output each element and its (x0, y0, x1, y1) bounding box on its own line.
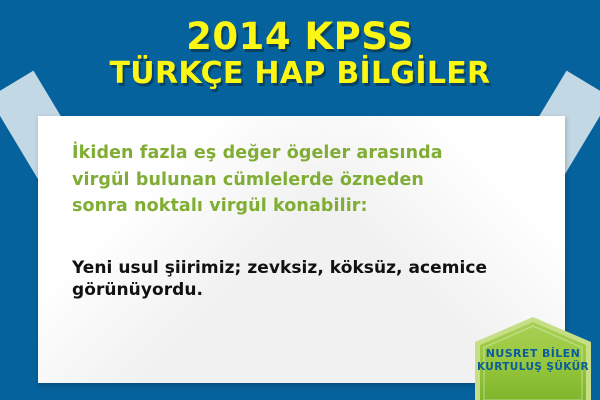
title-line-secondary: TÜRKÇE HAP BİLGİLER (0, 58, 600, 90)
card-body: İkiden fazla eş değer ögeler arasında vi… (38, 116, 565, 301)
author-badge: NUSRET BİLEN KURTULUŞ ŞÜKÜR (474, 316, 592, 400)
grammar-rule-text: İkiden fazla eş değer ögeler arasında vi… (72, 140, 535, 220)
example-sentence-text: Yeni usul şiirimiz; zevksiz, köksüz, ace… (72, 258, 535, 302)
grammar-rule-line-1: İkiden fazla eş değer ögeler arasında (72, 140, 535, 167)
grammar-rule-line-2: virgül bulunan cümlelerde özneden (72, 167, 535, 194)
grammar-rule-line-3: sonra noktalı virgül konabilir: (72, 193, 535, 220)
example-sentence-line-2: görünüyordu. (72, 280, 535, 302)
badge-shield-icon (474, 316, 592, 400)
example-sentence-line-1: Yeni usul şiirimiz; zevksiz, köksüz, ace… (72, 258, 535, 280)
title-line-primary: 2014 KPSS (0, 18, 600, 56)
poster-title: 2014 KPSS TÜRKÇE HAP BİLGİLER (0, 18, 600, 89)
poster-canvas: 2014 KPSS TÜRKÇE HAP BİLGİLER İkiden faz… (0, 0, 600, 400)
